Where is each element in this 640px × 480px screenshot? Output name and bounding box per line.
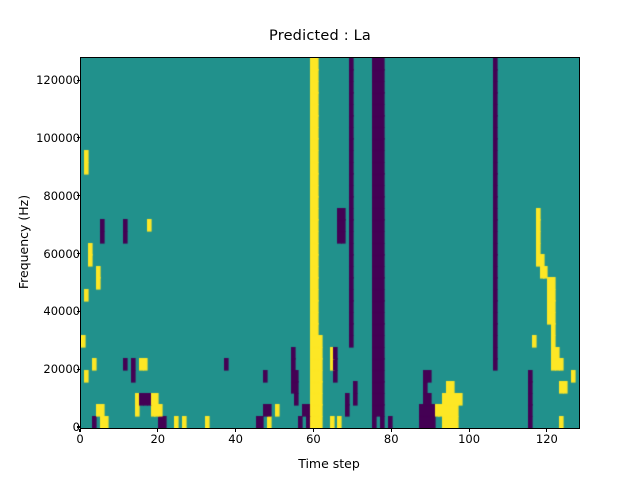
x-tick-label: 120 (527, 432, 567, 446)
x-tick-label: 0 (60, 432, 100, 446)
x-tick-mark (157, 429, 158, 433)
x-tick-mark (313, 429, 314, 433)
x-axis-label: Time step (80, 456, 578, 471)
x-tick-mark (469, 429, 470, 433)
matplotlib-figure: Predicted : La Frequency (Hz) 0200004000… (0, 0, 640, 480)
x-tick-label: 60 (293, 432, 333, 446)
x-tick-label: 80 (371, 432, 411, 446)
x-tick-mark (546, 429, 547, 433)
x-tick-mark (391, 429, 392, 433)
x-tick-label: 100 (449, 432, 489, 446)
x-axis-ticks: 020406080100120 (0, 0, 640, 480)
x-tick-label: 20 (138, 432, 178, 446)
x-tick-label: 40 (216, 432, 256, 446)
x-tick-mark (235, 429, 236, 433)
x-tick-mark (79, 429, 80, 433)
